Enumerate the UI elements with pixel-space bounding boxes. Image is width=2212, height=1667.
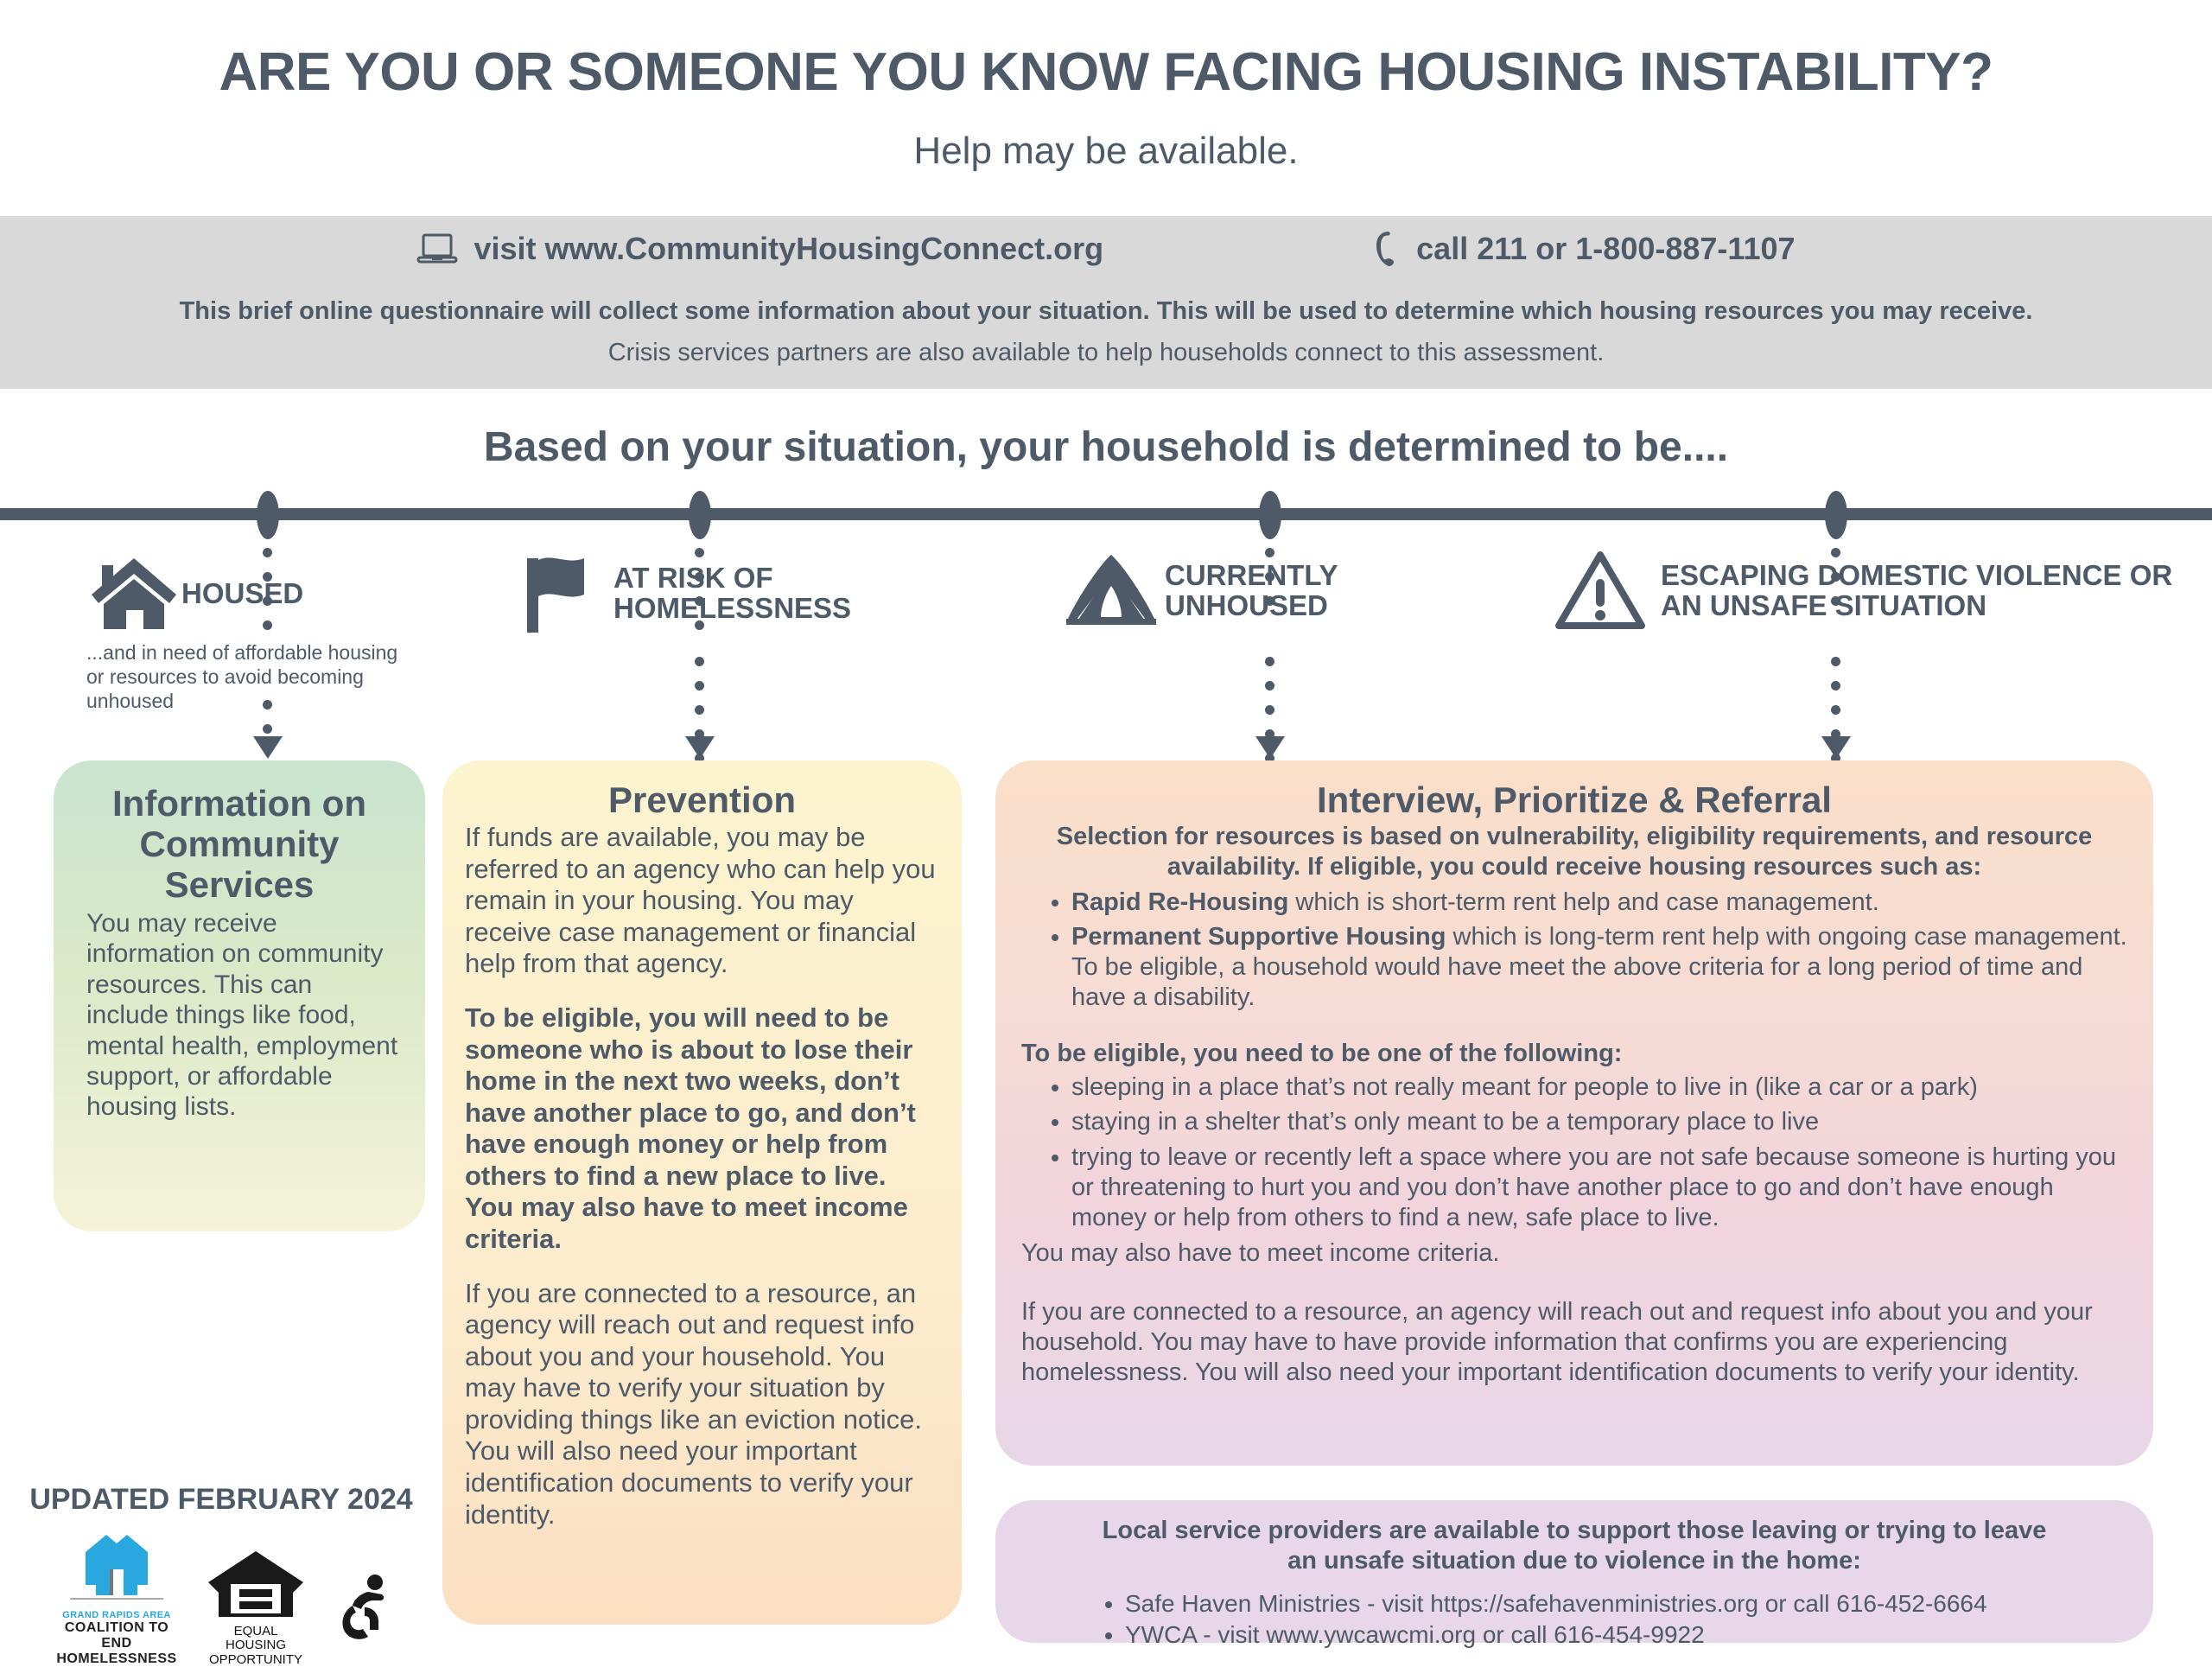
list-item[interactable]: Safe Haven Ministries - visit https://sa… [1125, 1588, 2127, 1619]
timeline-node-dv [1825, 491, 1847, 539]
tent-icon [1063, 550, 1160, 633]
coalition-region-label: GRAND RAPIDS AREA [52, 1610, 181, 1620]
card-interview-body: Selection for resources is based on vuln… [1021, 822, 2127, 1388]
card-local-providers: Local service providers are available to… [995, 1500, 2153, 1643]
providers-heading-line1: Local service providers are available to… [1021, 1516, 2127, 1546]
equal-housing-line2: OPPORTUNITY [204, 1653, 308, 1667]
resource-0-rest: which is short-term rent help and case m… [1288, 888, 1878, 916]
category-dv-label: ESCAPING DOMESTIC VIOLENCE OR AN UNSAFE … [1661, 561, 2195, 621]
timeline-node-unhoused [1259, 491, 1281, 539]
providers-list: Safe Haven Ministries - visit https://sa… [1021, 1588, 2127, 1651]
category-unhoused: CURRENTLY UNHOUSED [1063, 550, 1417, 633]
card-prevention-p3: If you are connected to a resource, an a… [465, 1278, 939, 1531]
list-item: trying to leave or recently left a space… [1071, 1142, 2127, 1232]
timeline-node-housed [257, 491, 279, 539]
house-icon [86, 553, 181, 635]
equal-housing-icon [205, 1609, 307, 1624]
banner-description: This brief online questionnaire will col… [0, 297, 2212, 326]
laptop-icon [416, 232, 458, 266]
connector-dots-unhoused-lower [1265, 657, 1275, 778]
category-at-risk: AT RISK OF HOMELESSNESS [518, 550, 881, 638]
category-dv: ESCAPING DOMESTIC VIOLENCE OR AN UNSAFE … [1555, 550, 2195, 633]
category-housed: HOUSED ...and in need of affordable hous… [86, 553, 406, 713]
timeline-node-at-risk [689, 491, 711, 539]
card-community-body: You may receive information on community… [76, 905, 403, 1123]
category-unhoused-label: CURRENTLY UNHOUSED [1165, 561, 1417, 621]
card-interview-eligible-heading: To be eligible, you need to be one of th… [1021, 1039, 2127, 1069]
card-interview-income-note: You may also have to meet income criteri… [1021, 1238, 2127, 1269]
visit-website-item[interactable]: visit www.CommunityHousingConnect.org [416, 231, 1103, 267]
list-item[interactable]: YWCA - visit www.ywcawcmi.org or call 61… [1125, 1619, 2127, 1651]
resource-0-bold: Rapid Re-Housing [1071, 888, 1288, 916]
phone-icon [1371, 230, 1401, 268]
card-prevention-p2: To be eligible, you will need to be some… [465, 1002, 939, 1256]
coalition-logo: GRAND RAPIDS AREA COALITION TO END HOMEL… [52, 1531, 181, 1667]
card-community-title: Information on Community Services [76, 783, 403, 905]
visit-website-label: visit www.CommunityHousingConnect.org [474, 231, 1103, 267]
card-community-text: You may receive information on community… [86, 908, 401, 1123]
section-title: Based on your situation, your household … [0, 423, 2212, 471]
card-interview-closing: If you are connected to a resource, an a… [1021, 1297, 2127, 1387]
call-item[interactable]: call 211 or 1-800-887-1107 [1371, 230, 1795, 268]
arrow-housed [253, 736, 283, 759]
card-interview-intro: Selection for resources is based on vuln… [1021, 822, 2127, 882]
card-prevention: Prevention If funds are available, you m… [442, 760, 962, 1625]
page-title: ARE YOU OR SOMEONE YOU KNOW FACING HOUSI… [0, 41, 2212, 103]
resource-1-bold: Permanent Supportive Housing [1071, 923, 1446, 951]
equal-housing-logo: EQUAL HOUSING OPPORTUNITY [204, 1548, 308, 1667]
contact-row: visit www.CommunityHousingConnect.org ca… [0, 230, 2212, 268]
providers-heading-line2: an unsafe situation due to violence in t… [1021, 1546, 2127, 1576]
list-item: staying in a shelter that’s only meant t… [1071, 1107, 2127, 1137]
list-item: sleeping in a place that’s not really me… [1071, 1072, 2127, 1103]
list-item: Permanent Supportive Housing which is lo… [1071, 922, 2127, 1012]
banner-subnote: Crisis services partners are also availa… [0, 339, 2212, 367]
coalition-houses-icon [56, 1593, 177, 1607]
contact-banner: visit www.CommunityHousingConnect.org ca… [0, 216, 2212, 389]
updated-date: UPDATED FEBRUARY 2024 [14, 1483, 429, 1517]
page-subtitle: Help may be available. [0, 130, 2212, 173]
connector-dots-dv-lower [1831, 657, 1841, 778]
category-at-risk-label: AT RISK OF HOMELESSNESS [613, 563, 881, 624]
category-housed-row: HOUSED [86, 553, 406, 635]
flag-icon [518, 550, 601, 638]
card-interview-title: Interview, Prioritize & Referral [1021, 779, 2127, 820]
list-item: Rapid Re-Housing which is short-term ren… [1071, 888, 2127, 918]
category-housed-label: HOUSED [181, 579, 303, 609]
timeline-bar [0, 508, 2212, 520]
category-housed-sub: ...and in need of affordable housing or … [86, 640, 406, 713]
card-prevention-body: If funds are available, you may be refer… [461, 820, 943, 1530]
category-at-risk-row: AT RISK OF HOMELESSNESS [518, 550, 881, 638]
coalition-name-line1: COALITION TO END [52, 1620, 181, 1651]
call-label: call 211 or 1-800-887-1107 [1416, 231, 1795, 267]
card-interview-eligible-list: sleeping in a place that’s not really me… [1021, 1072, 2127, 1233]
footer-logos: GRAND RAPIDS AREA COALITION TO END HOMEL… [52, 1531, 389, 1667]
warning-triangle-icon [1555, 550, 1645, 633]
card-prevention-p1: If funds are available, you may be refer… [465, 822, 939, 980]
card-prevention-title: Prevention [461, 779, 943, 820]
category-dv-row: ESCAPING DOMESTIC VIOLENCE OR AN UNSAFE … [1555, 550, 2195, 633]
arrow-unhoused [1255, 736, 1285, 759]
category-unhoused-row: CURRENTLY UNHOUSED [1063, 550, 1417, 633]
connector-dots-atrisk-lower [695, 657, 705, 778]
card-interview-resources-list: Rapid Re-Housing which is short-term ren… [1021, 888, 2127, 1013]
arrow-dv [1821, 736, 1851, 759]
accessibility-icon [330, 1575, 389, 1645]
card-community-services: Information on Community Services You ma… [54, 760, 425, 1231]
infographic-page: ARE YOU OR SOMEONE YOU KNOW FACING HOUSI… [0, 0, 2212, 1659]
arrow-atrisk [685, 736, 715, 759]
card-interview-prioritize-referral: Interview, Prioritize & Referral Selecti… [995, 760, 2153, 1466]
equal-housing-line1: EQUAL HOUSING [204, 1625, 308, 1652]
